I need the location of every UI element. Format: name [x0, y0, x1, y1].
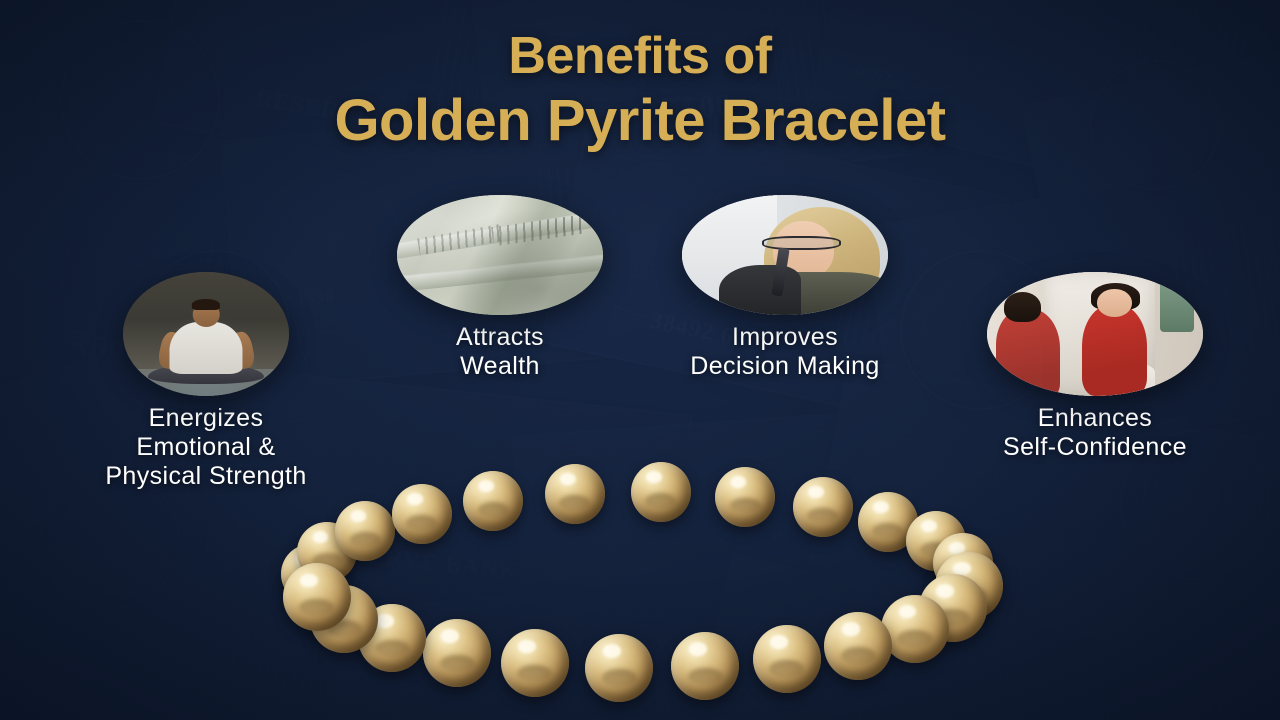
- reflected-head: [1004, 292, 1041, 322]
- bracelet-bead: [671, 632, 739, 700]
- eyeglasses: [762, 236, 840, 250]
- bracelet-bead: [631, 462, 691, 522]
- bracelet-bead: [335, 501, 395, 561]
- main-figure-head: [1097, 289, 1132, 316]
- thinking-woman-photo-image: [682, 195, 888, 315]
- benefits-infographic: ₹500RESERVE BANK OF INDIA₹5000092FIVE HU…: [0, 0, 1280, 720]
- figure-torso: [169, 322, 242, 374]
- benefit-caption-confidence: Enhances Self-Confidence: [955, 404, 1235, 462]
- benefit-caption-wealth: Attracts Wealth: [380, 323, 620, 381]
- bracelet-bead: [392, 484, 452, 544]
- main-figure-body: [1082, 304, 1147, 396]
- currency-photo-image: [397, 195, 603, 315]
- bracelet-bead: [501, 629, 569, 697]
- bracelet-bead: [793, 477, 853, 537]
- title-line-2: Golden Pyrite Bracelet: [0, 91, 1280, 150]
- photo-depth-blur: [397, 195, 603, 315]
- benefit-item-decision: Improves Decision Making: [655, 195, 915, 381]
- bracelet-bead: [824, 612, 892, 680]
- title-line-1: Benefits of: [0, 30, 1280, 83]
- benefit-caption-decision: Improves Decision Making: [655, 323, 915, 381]
- bracelet-bead: [585, 634, 653, 702]
- page-title: Benefits of Golden Pyrite Bracelet: [0, 30, 1280, 150]
- benefit-item-wealth: Attracts Wealth: [380, 195, 620, 381]
- mirror-woman-photo: [987, 272, 1203, 396]
- meditation-photo-image: [123, 272, 289, 396]
- bracelet-bead: [715, 467, 775, 527]
- benefit-item-confidence: Enhances Self-Confidence: [955, 272, 1235, 462]
- reflected-figure: [996, 309, 1061, 396]
- bracelet-bead: [283, 563, 351, 631]
- green-decor: [1160, 279, 1195, 331]
- currency-photo: [397, 195, 603, 315]
- golden-pyrite-bracelet: [250, 470, 1030, 700]
- thinking-woman-photo: [682, 195, 888, 315]
- benefit-caption-energizes: Energizes Emotional & Physical Strength: [36, 404, 376, 491]
- figure-shoulder: [719, 265, 801, 315]
- figure-hair: [192, 299, 220, 310]
- bracelet-bead: [463, 471, 523, 531]
- bracelet-bead: [545, 464, 605, 524]
- bracelet-bead: [423, 619, 491, 687]
- bracelet-bead: [753, 625, 821, 693]
- benefit-item-energizes: Energizes Emotional & Physical Strength: [36, 272, 376, 491]
- meditation-photo: [123, 272, 289, 396]
- mirror-woman-photo-image: [987, 272, 1203, 396]
